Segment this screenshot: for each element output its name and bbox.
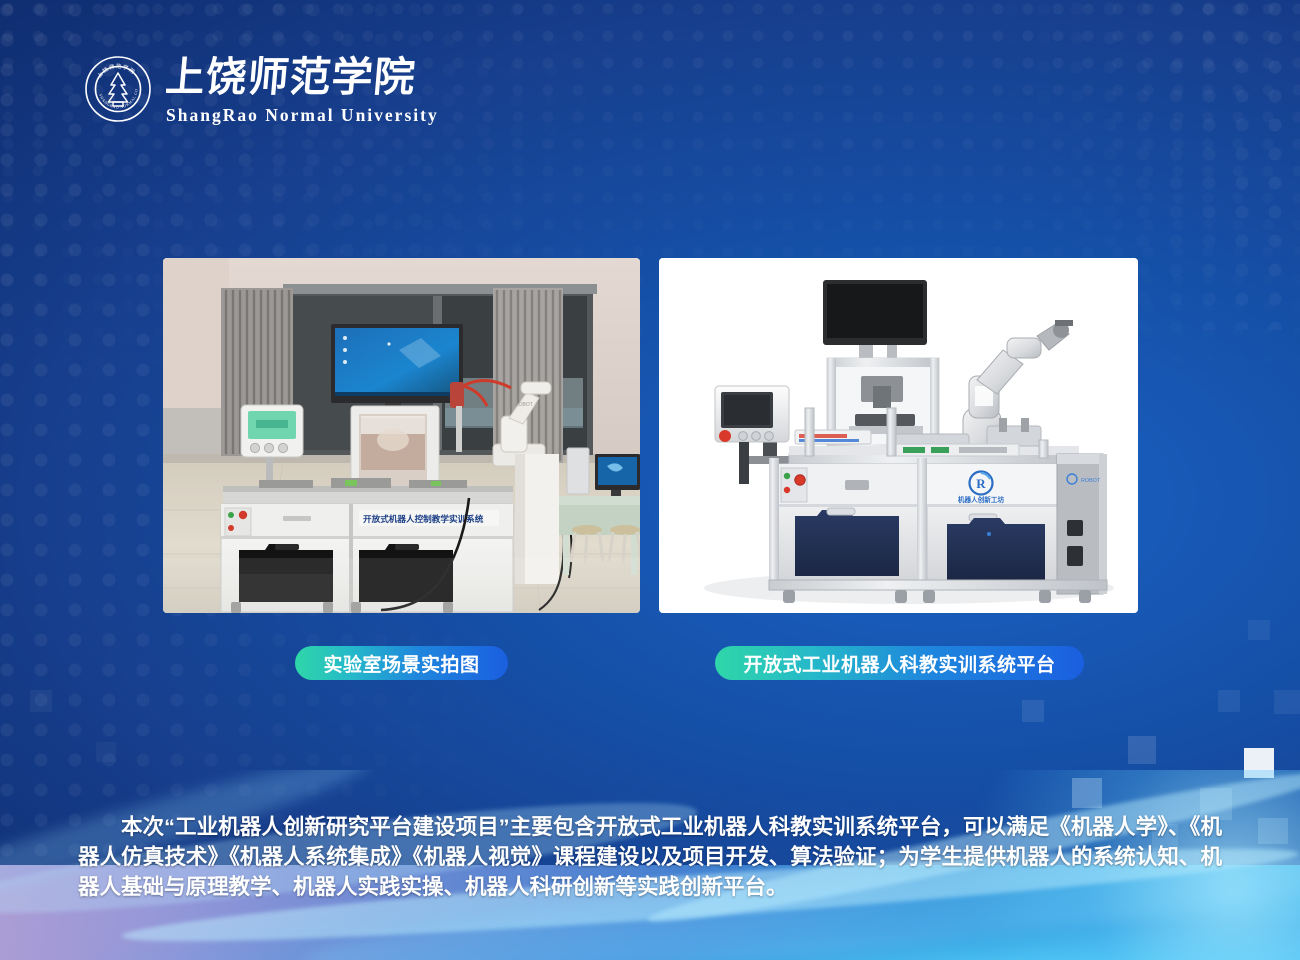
decorative-square — [1274, 690, 1300, 714]
decorative-square — [30, 690, 52, 712]
svg-text:R: R — [976, 476, 986, 491]
caption-training-platform[interactable]: 开放式工业机器人科教实训系统平台 — [715, 646, 1084, 680]
logo-text-block: 上饶师范学院 ShangRao Normal University — [166, 52, 466, 126]
description-text: 本次“工业机器人创新研究平台建设项目”主要包含开放式工业机器人科教实训系统平台，… — [78, 812, 1222, 902]
training-platform-photo: R 机器人创新工坊 ROBOT — [659, 258, 1138, 613]
logo-english-name: ShangRao Normal University — [166, 105, 466, 126]
svg-text:上饶师范学院: 上饶师范学院 — [166, 54, 418, 100]
caption-lab-scene[interactable]: 实验室场景实拍图 — [295, 646, 508, 680]
description-paragraph: 本次“工业机器人创新研究平台建设项目”主要包含开放式工业机器人科教实训系统平台，… — [78, 812, 1222, 902]
university-seal-icon: 上饶师范学院 SHANGRAO NORMAL COLLEGE — [84, 55, 152, 123]
decorative-square — [1128, 736, 1156, 764]
university-logo: 上饶师范学院 SHANGRAO NORMAL COLLEGE 上饶师范学院 Sh… — [84, 52, 466, 126]
decorative-square — [1218, 690, 1240, 712]
lab-scene-photo: ROBOT 开放式机器人控制教学实训系统 — [163, 258, 640, 613]
svg-text:ROBOT: ROBOT — [515, 402, 533, 408]
caption-label: 开放式工业机器人科教实训系统平台 — [743, 650, 1055, 677]
caption-label: 实验室场景实拍图 — [323, 650, 479, 677]
svg-text:ROBOT: ROBOT — [1081, 478, 1101, 484]
machine-label: 机器人创新工坊 — [958, 495, 1005, 504]
decorative-square — [1022, 700, 1044, 722]
decorative-square — [1248, 620, 1270, 640]
logo-chinese-name: 上饶师范学院 — [166, 52, 466, 102]
decorative-square — [96, 742, 116, 762]
